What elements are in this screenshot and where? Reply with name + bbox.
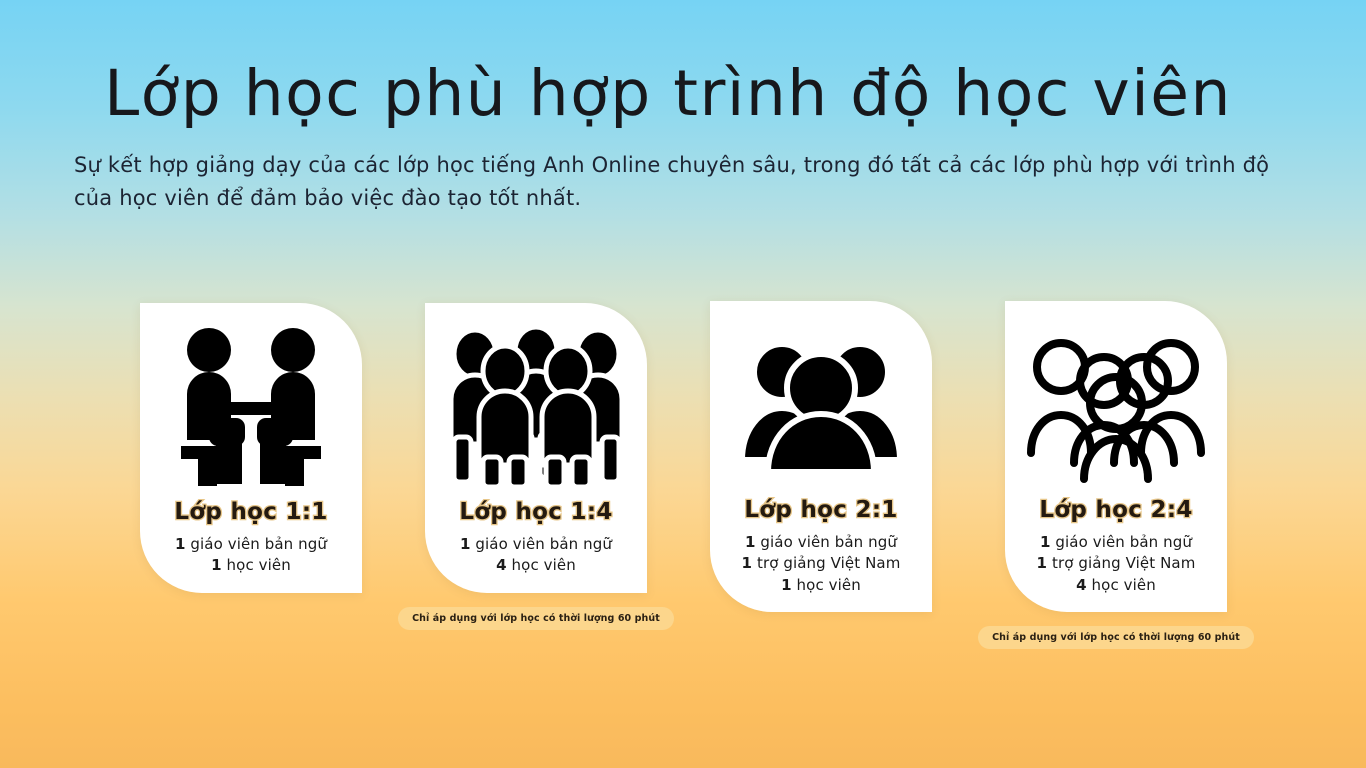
card-detail-line: 1 giáo viên bản ngữ <box>460 534 612 555</box>
card-detail-text: học viên <box>222 556 291 574</box>
card-detail-line: 1 trợ giảng Việt Nam <box>742 553 901 574</box>
card-detail-line: 1 học viên <box>175 555 327 576</box>
class-type-card[interactable]: Lớp học 1:41 giáo viên bản ngữ4 học viên… <box>425 303 647 630</box>
card-body[interactable]: Lớp học 1:11 giáo viên bản ngữ1 học viên <box>140 303 362 593</box>
card-title: Lớp học 2:1 <box>744 497 897 523</box>
card-detail-text: trợ giảng Việt Nam <box>752 554 900 572</box>
card-body[interactable]: Lớp học 2:11 giáo viên bản ngữ1 trợ giản… <box>710 301 932 612</box>
card-detail-count: 4 <box>1076 576 1087 594</box>
page-subtitle: Sự kết hợp giảng dạy của các lớp học tiế… <box>74 149 1292 214</box>
card-detail-text: giáo viên bản ngữ <box>186 535 327 553</box>
duration-note-badge: Chỉ áp dụng với lớp học có thời lượng 60… <box>398 607 674 630</box>
card-detail-count: 1 <box>175 535 186 553</box>
page-title: Lớp học phù hợp trình độ học viên <box>74 62 1292 125</box>
card-body[interactable]: Lớp học 1:41 giáo viên bản ngữ4 học viên <box>425 303 647 593</box>
card-detail-count: 1 <box>1040 533 1051 551</box>
card-body[interactable]: Lớp học 2:41 giáo viên bản ngữ1 trợ giản… <box>1005 301 1227 612</box>
card-detail-list: 1 giáo viên bản ngữ1 trợ giảng Việt Nam4… <box>1037 532 1196 596</box>
card-detail-text: học viên <box>1087 576 1156 594</box>
card-detail-count: 1 <box>742 554 753 572</box>
card-detail-line: 4 học viên <box>1037 575 1196 596</box>
card-detail-line: 1 học viên <box>742 575 901 596</box>
card-detail-count: 1 <box>745 533 756 551</box>
class-type-card[interactable]: Lớp học 2:11 giáo viên bản ngữ1 trợ giản… <box>710 301 932 649</box>
card-detail-text: giáo viên bản ngữ <box>1051 533 1192 551</box>
card-title: Lớp học 1:1 <box>174 499 327 525</box>
card-detail-line: 1 giáo viên bản ngữ <box>175 534 327 555</box>
class-type-card[interactable]: Lớp học 2:41 giáo viên bản ngữ1 trợ giản… <box>1005 301 1227 649</box>
card-detail-text: giáo viên bản ngữ <box>471 535 612 553</box>
two-people-at-table-icon <box>176 325 326 493</box>
card-detail-text: học viên <box>507 556 576 574</box>
class-type-card[interactable]: Lớp học 1:11 giáo viên bản ngữ1 học viên <box>140 303 362 630</box>
card-detail-list: 1 giáo viên bản ngữ4 học viên <box>460 534 612 577</box>
card-title: Lớp học 1:4 <box>459 499 612 525</box>
card-title: Lớp học 2:4 <box>1039 497 1192 523</box>
card-detail-list: 1 giáo viên bản ngữ1 trợ giảng Việt Nam1… <box>742 532 901 596</box>
card-detail-count: 4 <box>496 556 507 574</box>
page-header: Lớp học phù hợp trình độ học viên Sự kết… <box>0 0 1366 214</box>
class-type-card-row: Lớp học 1:11 giáo viên bản ngữ1 học viên <box>0 295 1366 655</box>
card-detail-line: 1 trợ giảng Việt Nam <box>1037 553 1196 574</box>
card-detail-count: 1 <box>460 535 471 553</box>
card-detail-line: 1 giáo viên bản ngữ <box>742 532 901 553</box>
card-detail-text: giáo viên bản ngữ <box>756 533 897 551</box>
card-detail-count: 1 <box>211 556 222 574</box>
duration-note-badge: Chỉ áp dụng với lớp học có thời lượng 60… <box>978 626 1254 649</box>
group-of-five-people-outline-icon <box>1026 323 1206 491</box>
card-detail-count: 1 <box>1037 554 1048 572</box>
group-of-three-people-filled-icon <box>740 323 902 491</box>
card-detail-line: 4 học viên <box>460 555 612 576</box>
group-of-five-people-filled-icon <box>444 325 629 493</box>
card-detail-line: 1 giáo viên bản ngữ <box>1037 532 1196 553</box>
card-detail-text: trợ giảng Việt Nam <box>1047 554 1195 572</box>
card-detail-text: học viên <box>792 576 861 594</box>
card-detail-count: 1 <box>781 576 792 594</box>
card-detail-list: 1 giáo viên bản ngữ1 học viên <box>175 534 327 577</box>
